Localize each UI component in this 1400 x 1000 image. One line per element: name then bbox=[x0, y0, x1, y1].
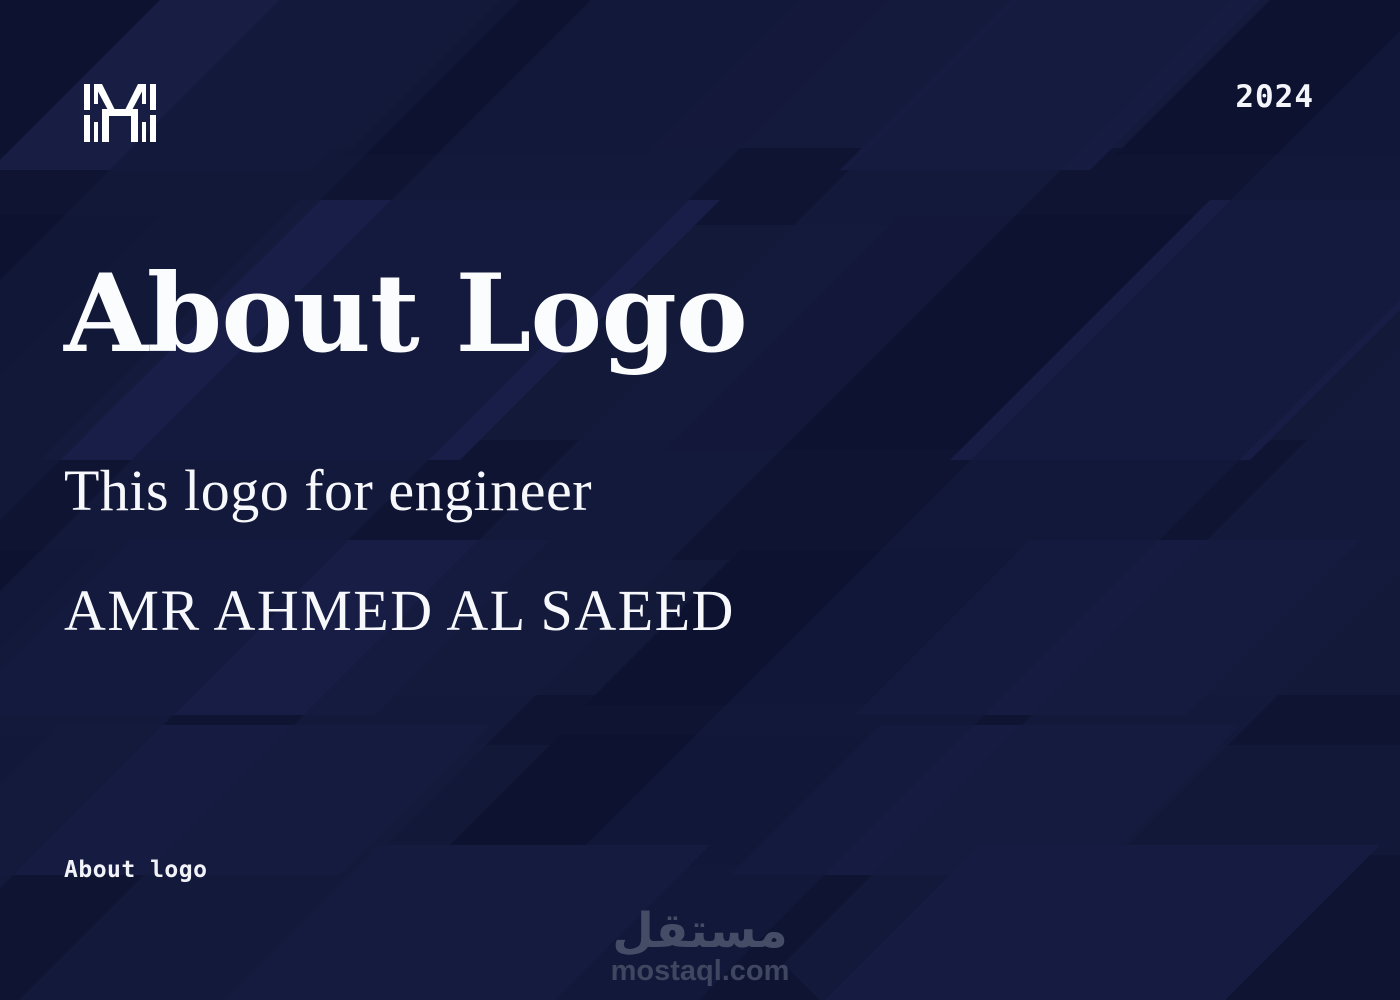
year-label: 2024 bbox=[1235, 82, 1314, 113]
mostaql-arabic-wordmark: مستقل bbox=[611, 905, 790, 958]
slide-content: 2024 About Logo This logo for engineer A… bbox=[0, 0, 1400, 1000]
page-title: About Logo bbox=[64, 258, 1244, 371]
mostaql-url-text: mostaql.com bbox=[611, 956, 790, 988]
headline-block: About Logo This logo for engineer AMR AH… bbox=[64, 258, 1244, 643]
mostaql-watermark: مستقل mostaql.com bbox=[611, 905, 790, 988]
client-name-text: AMR AHMED AL SAEED bbox=[64, 579, 1244, 643]
slide-canvas: 2024 About Logo This logo for engineer A… bbox=[0, 0, 1400, 1000]
subtitle-text: This logo for engineer bbox=[64, 459, 1244, 523]
footer-caption: About logo bbox=[64, 859, 207, 882]
amr-monogram-logo-icon bbox=[82, 82, 158, 144]
